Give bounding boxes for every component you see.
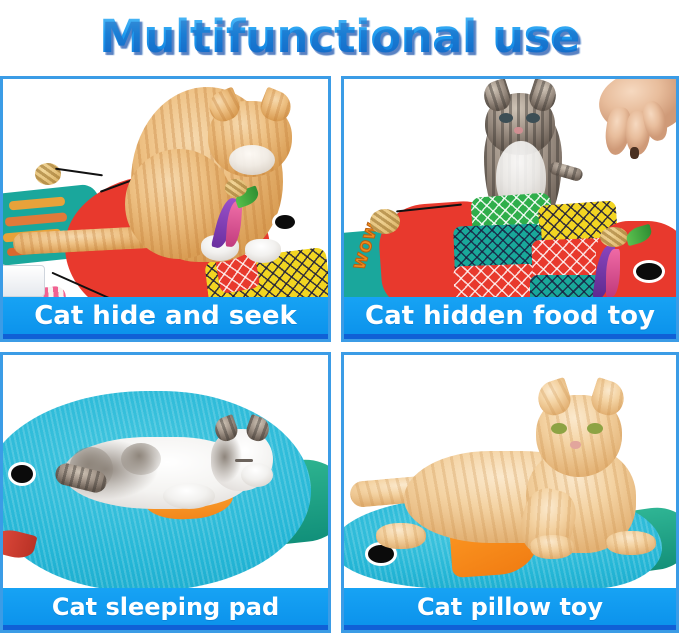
cat-eye-right	[526, 113, 540, 123]
cat-eye-right	[587, 423, 603, 434]
page-title-text: Multifunctional use	[99, 10, 580, 63]
caption-text-1: Cat hide and seek	[34, 301, 297, 331]
cat-nose	[570, 441, 581, 449]
panel-cat-hide-and-seek[interactable]: Cat hide and seek	[0, 76, 331, 342]
cat-paw-side	[606, 531, 656, 555]
cat-eye-left	[499, 113, 513, 123]
cat-eye-left	[551, 423, 567, 434]
cat-fur-patch	[121, 443, 161, 475]
cat-paw-front	[530, 535, 574, 559]
panel-cat-sleeping-pad[interactable]: Cat sleeping pad	[0, 352, 331, 633]
panel-3-frame: Cat sleeping pad	[0, 352, 331, 633]
caption-text-2: Cat hidden food toy	[365, 301, 655, 331]
toy-rattle-ball	[35, 163, 61, 185]
toy-spring	[600, 227, 628, 247]
treat-piece	[630, 147, 639, 159]
panel-cat-pillow-toy[interactable]: Cat pillow toy	[341, 352, 679, 633]
toy-string	[55, 168, 103, 177]
panel-4-frame: Cat pillow toy	[341, 352, 679, 633]
fish-eye	[11, 465, 33, 483]
caption-text-4: Cat pillow toy	[417, 593, 603, 621]
panel-1-frame: Cat hide and seek	[0, 76, 331, 342]
caption-bar-3: Cat sleeping pad	[3, 588, 328, 630]
fish-eye	[275, 215, 295, 229]
caption-bar-2: Cat hidden food toy	[344, 297, 676, 339]
caption-bar-4: Cat pillow toy	[344, 588, 676, 630]
infographic-page: Multifunctional use Multifunctional use	[0, 0, 679, 633]
toy-rattle-ball	[370, 209, 400, 234]
panel-cat-hidden-food-toy[interactable]: WOW	[341, 76, 679, 342]
cat-hind-paw	[376, 523, 426, 549]
cat-muzzle	[241, 463, 273, 487]
panel-grid: Cat hide and seek	[0, 76, 679, 633]
panel-2-frame: WOW	[341, 76, 679, 342]
cat-muzzle	[229, 145, 275, 175]
toy-spring	[225, 179, 247, 197]
cat-closed-eye	[235, 459, 253, 462]
cat-nose	[514, 127, 523, 134]
caption-text-3: Cat sleeping pad	[52, 593, 279, 621]
page-title: Multifunctional use Multifunctional use	[0, 0, 679, 72]
caption-bar-1: Cat hide and seek	[3, 297, 328, 339]
fish-eye	[636, 263, 662, 280]
cat-paw-right	[245, 239, 281, 263]
cat-paw	[163, 483, 215, 509]
toy-box	[3, 265, 45, 297]
